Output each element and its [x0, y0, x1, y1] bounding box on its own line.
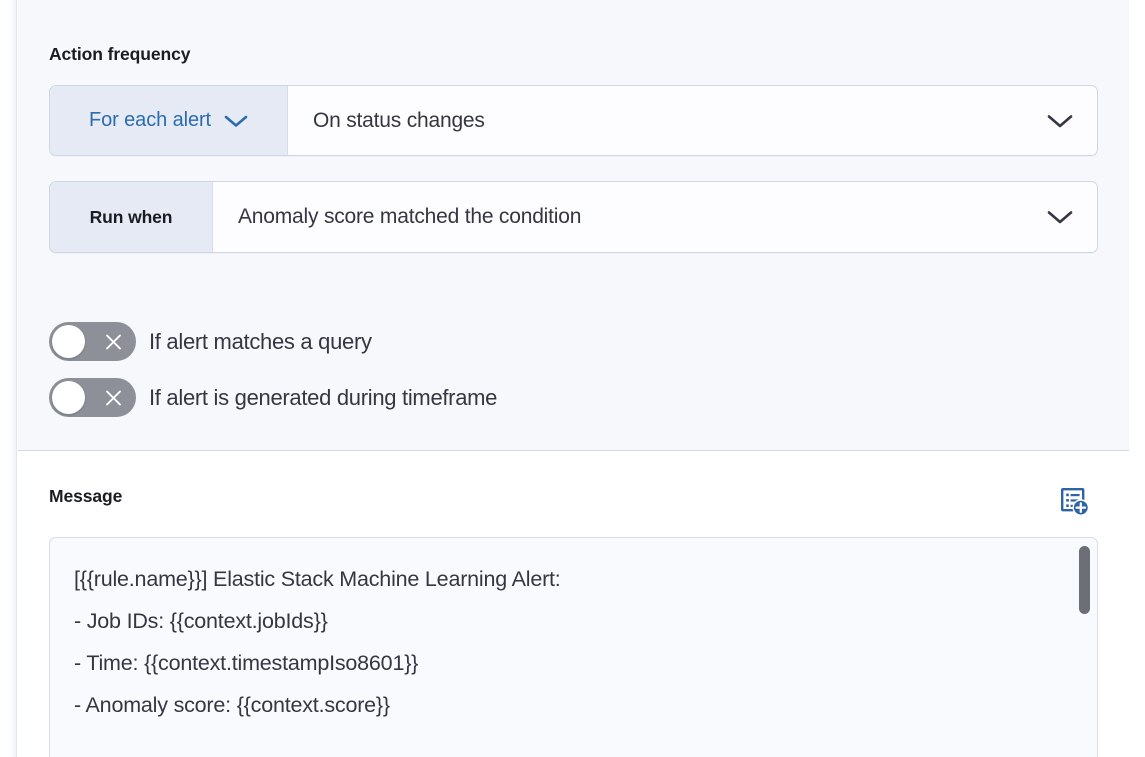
toggle-knob [52, 381, 85, 414]
toggle-knob [52, 325, 85, 358]
run-when-condition-select[interactable]: Anomaly score matched the condition [213, 182, 1097, 252]
message-textarea-value: [{{rule.name}}] Elastic Stack Machine Le… [74, 558, 1075, 726]
add-variable-icon [1060, 487, 1090, 517]
status-change-value: On status changes [313, 109, 485, 133]
chevron-down-icon [223, 113, 249, 129]
action-settings-panel: Action frequency For each alert On statu… [0, 0, 1145, 757]
message-section: Message [{{rule.name}}] Elastic Stack Ma… [18, 452, 1129, 757]
for-each-alert-select[interactable]: For each alert [50, 86, 288, 155]
alert-timeframe-label: If alert is generated during timeframe [149, 385, 497, 411]
alert-matches-query-label: If alert matches a query [149, 329, 372, 355]
run-when-label: Run when [90, 207, 173, 228]
message-textarea[interactable]: [{{rule.name}}] Elastic Stack Machine Le… [49, 537, 1098, 757]
cross-icon [104, 388, 123, 407]
action-frequency-section: Action frequency For each alert On statu… [18, 0, 1129, 451]
page-left-edge [0, 0, 17, 757]
chevron-down-icon [1045, 112, 1075, 130]
cross-icon [104, 332, 123, 351]
for-each-alert-label: For each alert [89, 109, 211, 132]
alert-matches-query-toggle[interactable] [49, 322, 136, 361]
chevron-down-icon [1045, 208, 1075, 226]
alert-matches-query-toggle-row: If alert matches a query [49, 322, 372, 361]
message-scrollbar-thumb[interactable] [1079, 546, 1090, 614]
action-frequency-title: Action frequency [49, 44, 190, 65]
message-scrollbar-track[interactable] [1078, 546, 1091, 757]
message-title: Message [49, 486, 122, 507]
action-frequency-row[interactable]: For each alert On status changes [49, 85, 1098, 156]
add-variable-button[interactable] [1057, 484, 1093, 520]
alert-timeframe-toggle[interactable] [49, 378, 136, 417]
run-when-label-box: Run when [50, 182, 213, 252]
alert-timeframe-toggle-row: If alert is generated during timeframe [49, 378, 497, 417]
run-when-condition-value: Anomaly score matched the condition [238, 205, 581, 229]
run-when-row[interactable]: Run when Anomaly score matched the condi… [49, 181, 1098, 253]
status-change-select[interactable]: On status changes [288, 86, 1097, 155]
